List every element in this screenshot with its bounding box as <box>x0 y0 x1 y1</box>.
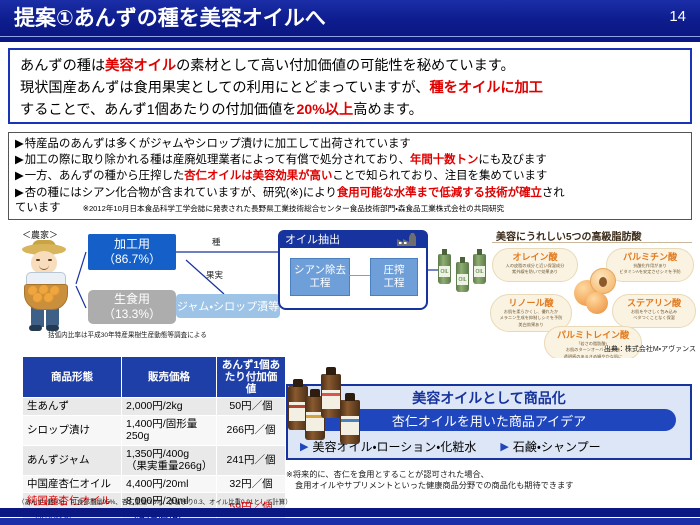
final-footnote-line2: 食用オイルやサプリメントといった健康商品分野での商品化も期待できます <box>286 481 573 492</box>
ratio-source-note: 括弧内比率は平成30年特産果樹生産動態等調査による <box>48 329 207 339</box>
product-idea-2-label: 石鹸・シャンプー <box>513 438 601 455</box>
table-row: あんずジャム 1,350円/400g （果実重量266g） 241円／個 <box>23 445 286 475</box>
lead-line-2-text-a: 現状国産あんずは食用果実としての利用にとどまっていますが、 <box>20 80 429 96</box>
table-row: 生あんず 2,000円/2kg 50円／個 <box>23 398 286 416</box>
lead-statement-box: あんずの種は美容オイルの素材として高い付加価値の可能性を秘めています。 現状国産… <box>8 48 692 124</box>
fatty-acid-divider <box>492 242 692 243</box>
fatty-acid-panel: 美容にうれしい5つの高級脂肪酸 オレイン酸 人の皮脂の成分と近い保湿成分 紫外線… <box>486 226 700 358</box>
node-processing-label: 加工用 <box>114 237 150 252</box>
table-cell-value: 266円／個 <box>217 415 286 445</box>
page-number: 14 <box>669 8 686 25</box>
final-footnote: ※将来的に、杏仁を食用とすることが認可された場合、 食用オイルやサプリメントとい… <box>286 470 573 491</box>
bottom-bar-primary <box>0 508 700 517</box>
fatty-acid-title: 美容にうれしい5つの高級脂肪酸 <box>496 228 642 243</box>
table-cell-price: 4,400円/20ml <box>122 475 217 493</box>
bullet-item-2-text-b: にも及びます <box>478 154 546 166</box>
table-cell-price-line2: 250g <box>126 430 149 442</box>
fatty-acid-linoleic-name: リノール酸 <box>491 298 571 308</box>
table-header-price: 販売価格 <box>122 357 217 398</box>
lead-line-3: することで、あんず1個あたりの付加価値を20%以上高めます。 <box>20 99 682 121</box>
bullet-item-4: ▶杏の種にはシアン化合物が含まれていますが、研究(※)により食用可能な水準まで低… <box>15 185 686 201</box>
node-fresh-ratio: （13.3%） <box>103 307 161 322</box>
fatty-acid-stearic-name: ステアリン酸 <box>613 298 695 308</box>
lead-line-3-highlight: 20%以上 <box>296 102 353 118</box>
process-cyanide-line2: 工程 <box>310 277 331 290</box>
table-cell-form: 生あんず <box>23 398 122 416</box>
table-cell-form: あんずジャム <box>23 445 122 475</box>
apricot-illustration-icon <box>570 264 624 316</box>
bullet-list-box: ▶特産品のあんずは多くがジャムやシロップ漬けに加工して出荷されています ▶加工の… <box>8 132 692 220</box>
fatty-acid-oleic-name: オレイン酸 <box>493 252 577 262</box>
edge-label-fruit: 果実 <box>206 269 223 281</box>
factory-icon <box>396 233 418 247</box>
oil-extraction-title: オイル抽出 <box>285 231 340 247</box>
lead-line-1-highlight: 美容オイル <box>105 58 176 74</box>
lead-line-1-text-a: あんずの種は <box>20 58 105 74</box>
node-jam-syrup: ジャム・シロップ漬等 <box>176 294 280 318</box>
table-header-value: あんず1個あ たり付加価値 <box>217 357 286 398</box>
lead-line-2-highlight: 種をオイルに加工 <box>429 80 543 96</box>
bullet-marker-icon: ▶ <box>15 187 24 199</box>
bullet-item-3-text-a: 一方、あんずの種から圧搾した <box>25 170 184 182</box>
fatty-acid-source: 出典：株式会社M・アヴァンス <box>604 344 696 354</box>
process-connector <box>348 275 370 276</box>
table-cell-value: 241円／個 <box>217 445 286 475</box>
fatty-acid-palmitic-name: パルミチン酸 <box>607 252 693 262</box>
bullet-marker-icon: ▶ <box>15 154 24 166</box>
bullet-source-note: ※2012年10月日本食品科学工学会誌に発表された長野県工業技術総合センター食品… <box>83 204 505 213</box>
bullet-item-4-highlight: 食用可能な水準まで低減する技術が確立 <box>337 187 542 199</box>
table-row: 中国産杏仁オイル 4,400円/20ml 32円／個 <box>23 475 286 493</box>
bottle-label: OIL <box>457 274 468 285</box>
oil-extraction-panel: オイル抽出 シアン除去 工程 圧搾 工程 <box>278 230 428 310</box>
lead-line-3-text-b: 高めます。 <box>353 102 423 118</box>
node-processing-use: 加工用 （86.7%） <box>88 234 176 270</box>
bullet-item-4-text-a: 杏の種にはシアン化合物が含まれていますが、研究(※)により <box>25 187 337 199</box>
title-underline <box>0 36 700 42</box>
edge-label-seed: 種 <box>212 236 221 248</box>
bullet-item-2-highlight: 年間十数トン <box>410 154 478 166</box>
node-processing-ratio: （86.7%） <box>103 252 161 267</box>
page-title: 提案①あんずの種を美容オイルへ <box>14 8 326 29</box>
table-footnote: （あんず1個50g、可食部重量95%、杏仁重量0.8%、歩留まり0.3、オイル比… <box>18 497 292 506</box>
bullet-item-3-highlight: 杏仁オイルは美容効果が高い <box>184 170 332 182</box>
table-cell-price: 1,350円/400g （果実重量266g） <box>122 445 217 475</box>
process-pressing-line1: 圧搾 <box>384 264 405 277</box>
bullet-marker-icon: ▶ <box>15 170 24 182</box>
final-footnote-line1: ※将来的に、杏仁を食用とすることが認可された場合、 <box>286 470 489 479</box>
table-cell-price-line1: 1,350円/400g <box>126 448 189 460</box>
slide-root: 提案①あんずの種を美容オイルへ 14 あんずの種は美容オイルの素材として高い付加… <box>0 0 700 525</box>
lead-line-1: あんずの種は美容オイルの素材として高い付加価値の可能性を秘めています。 <box>20 55 682 77</box>
fatty-acid-linoleic-desc-2: メラニン生成を抑制しシミを予防 <box>491 314 571 320</box>
fatty-acid-oleic: オレイン酸 人の皮脂の成分と近い保湿成分 紫外線を防いで効果あり <box>492 248 578 282</box>
bullet-item-4-cont-text: ています <box>15 202 61 214</box>
bullet-marker-icon: ▶ <box>15 138 24 150</box>
table-header-form: 商品形態 <box>23 357 122 398</box>
node-fresh-use: 生食用 （13.3%） <box>88 290 176 324</box>
table-header-value-line1: あんず1個あ <box>222 359 280 371</box>
node-fresh-label: 生食用 <box>114 292 150 307</box>
oil-bottles-small-icon: OIL OIL OIL <box>436 248 488 296</box>
product-idea-2: ▶ 石鹸・シャンプー <box>500 438 600 455</box>
triangle-marker-icon: ▶ <box>300 440 308 453</box>
oil-bottles-large-icon <box>288 366 374 432</box>
bullet-item-4-text-b: され <box>542 187 565 199</box>
fatty-acid-stearic: ステアリン酸 お肌をやさしく包み込み ベタつくことなく保湿 <box>612 294 696 328</box>
product-idea-1-label: 美容オイル・ローション・化粧水 <box>312 438 476 455</box>
table-cell-price: 2,000円/2kg <box>122 398 217 416</box>
fatty-acid-palmitoleic-name: パルミトレイン酸 <box>545 330 641 340</box>
table-row: シロップ漬け 1,400円/固形量 250g 266円／個 <box>23 415 286 445</box>
process-pressing-line2: 工程 <box>384 277 405 290</box>
lead-line-3-text-a: することで、あんず1個あたりの付加価値を <box>20 102 296 118</box>
product-idea-1: ▶ 美容オイル・ローション・化粧水 <box>300 438 476 455</box>
slide-title-bar: 提案①あんずの種を美容オイルへ <box>0 0 700 36</box>
bottle-label: OIL <box>474 266 485 277</box>
process-cyanide-line1: シアン除去 <box>294 264 346 277</box>
triangle-marker-icon: ▶ <box>500 440 508 453</box>
table-cell-price: 1,400円/固形量 250g <box>122 415 217 445</box>
process-pressing: 圧搾 工程 <box>370 258 418 296</box>
bullet-item-3-text-b: ことで知られており、注目を集めています <box>332 170 547 182</box>
process-cyanide-removal: シアン除去 工程 <box>290 258 350 296</box>
table-header-row: 商品形態 販売価格 あんず1個あ たり付加価値 <box>23 357 286 398</box>
table-cell-value: 32円／個 <box>217 475 286 493</box>
fatty-acid-stearic-desc-2: ベタつくことなく保湿 <box>613 314 695 320</box>
table-cell-form: シロップ漬け <box>23 415 122 445</box>
table-cell-form: 中国産杏仁オイル <box>23 475 122 493</box>
table-header-value-line2: たり付加価値 <box>225 371 278 395</box>
lead-line-2: 現状国産あんずは食用果実としての利用にとどまっていますが、種をオイルに加工 <box>20 77 682 99</box>
bullet-item-3: ▶一方、あんずの種から圧搾した杏仁オイルは美容効果が高いことで知られており、注目… <box>15 168 686 184</box>
table-cell-price-line2: （果実重量266g） <box>126 460 212 472</box>
bottle-label: OIL <box>439 266 450 277</box>
bottom-bar-secondary <box>0 518 700 525</box>
bullet-item-2-text-a: 加工の際に取り除かれる種は産廃処理業者によって有償で処分されており、 <box>25 154 410 166</box>
bullet-item-1: ▶特産品のあんずは多くがジャムやシロップ漬けに加工して出荷されています <box>15 136 686 152</box>
bullet-item-4-continuation: ています※2012年10月日本食品科学工学会誌に発表された長野県工業技術総合セン… <box>15 201 686 216</box>
table-cell-value: 50円／個 <box>217 398 286 416</box>
table-cell-price-line1: 1,400円/固形量 <box>126 418 197 430</box>
bullet-item-1-text: 特産品のあんずは多くがジャムやシロップ漬けに加工して出荷されています <box>25 138 411 150</box>
lead-line-1-text-b: の素材として高い付加価値の可能性を秘めています。 <box>176 58 515 74</box>
fatty-acid-oleic-desc-2: 紫外線を防いで効果あり <box>493 268 577 274</box>
bullet-item-2: ▶加工の際に取り除かれる種は産廃処理業者によって有償で処分されており、年間十数ト… <box>15 152 686 168</box>
